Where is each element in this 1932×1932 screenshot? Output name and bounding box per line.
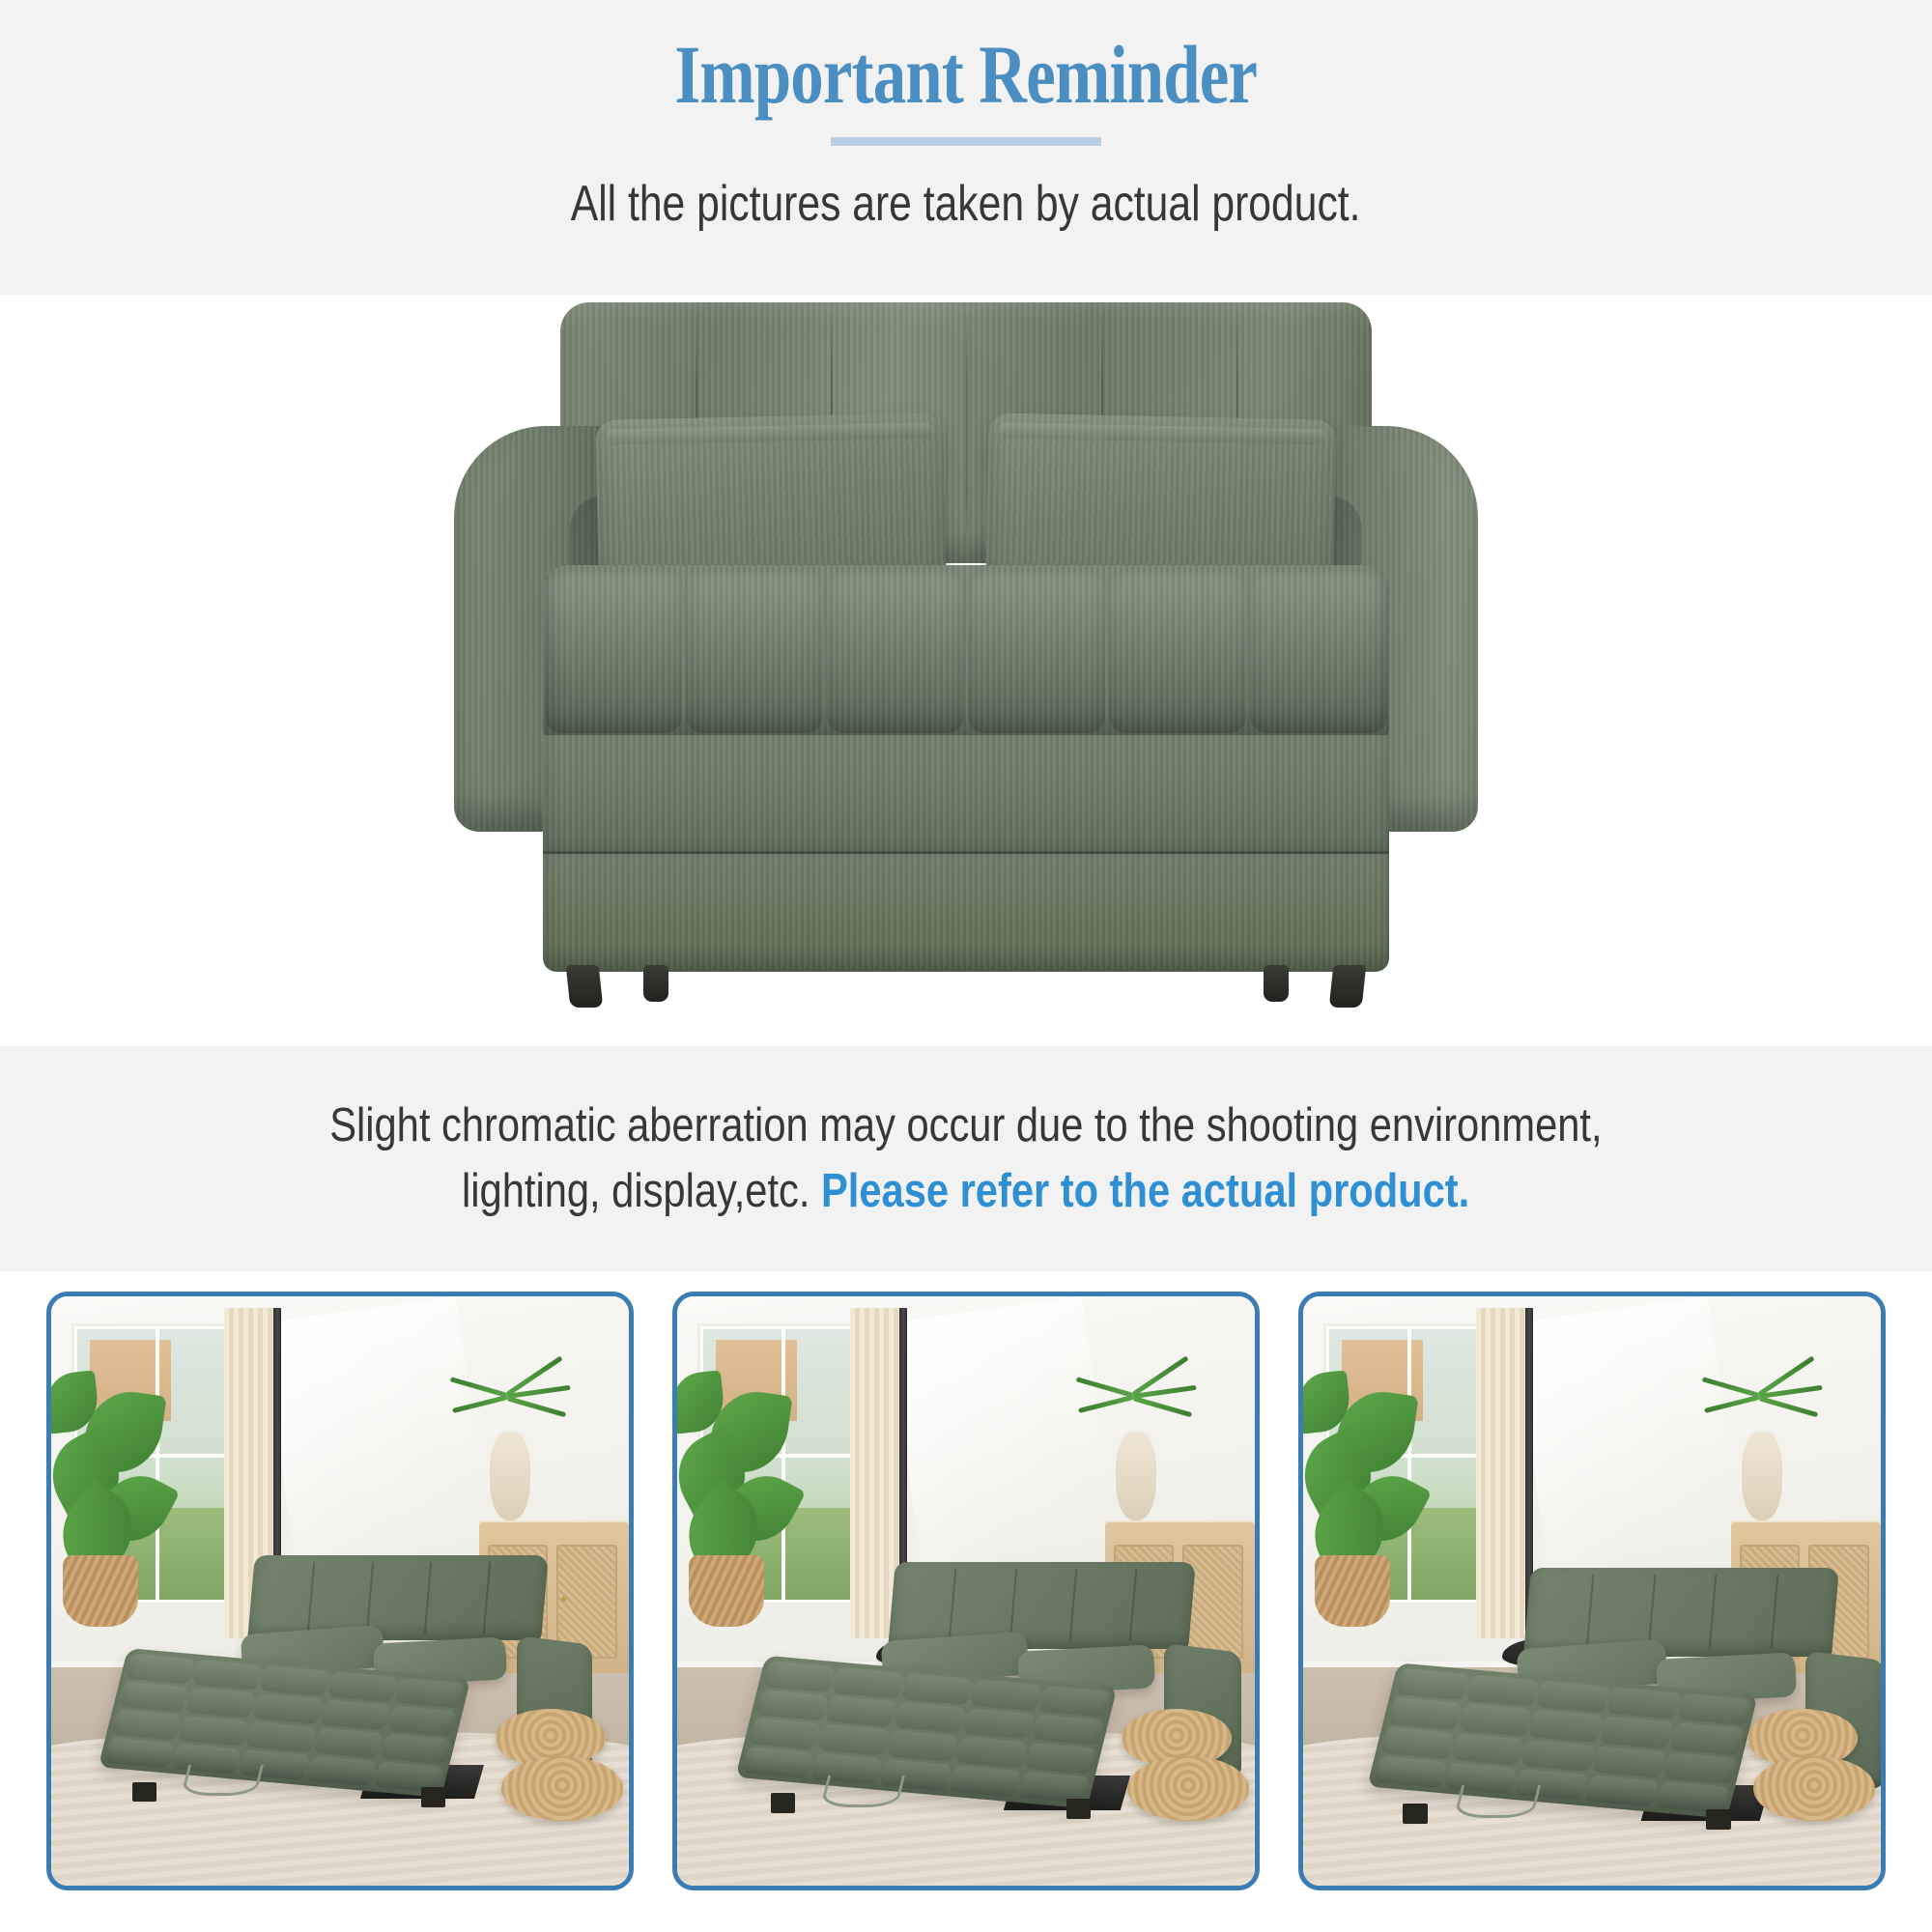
- sofa-illustration: [454, 302, 1478, 979]
- sofa-front-panel: [543, 735, 1389, 863]
- sofa-leg-back-right: [1264, 965, 1289, 1002]
- thumbnail-3[interactable]: [1298, 1292, 1886, 1890]
- title-divider: [831, 137, 1101, 146]
- hero-product-image: [0, 295, 1932, 1046]
- notice-band: Slight chromatic aberration may occur du…: [0, 1046, 1932, 1271]
- notice-line-2-plain: lighting, display,etc.: [462, 1165, 821, 1217]
- thumbnail-2[interactable]: [672, 1292, 1260, 1890]
- room-scene-3: [1303, 1296, 1881, 1886]
- sofa-base-skirt: [543, 854, 1389, 972]
- notice-accent-text: Please refer to the actual product.: [821, 1165, 1469, 1217]
- header-band: Important Reminder All the pictures are …: [0, 0, 1932, 295]
- notice-line-1: Slight chromatic aberration may occur du…: [329, 1094, 1602, 1159]
- sofa-leg-front-right: [1329, 965, 1367, 1008]
- page-title: Important Reminder: [675, 33, 1258, 116]
- thumbnail-strip: [0, 1292, 1932, 1932]
- room-scene-2: [677, 1296, 1255, 1886]
- sofa-seat-cushion: [543, 565, 1389, 741]
- sofa-leg-front-left: [566, 965, 604, 1008]
- sofa-leg-back-left: [643, 965, 668, 1002]
- header-subtitle: All the pictures are taken by actual pro…: [571, 175, 1361, 233]
- notice-line-2: lighting, display,etc. Please refer to t…: [462, 1159, 1469, 1225]
- room-scene-1: [51, 1296, 629, 1886]
- thumbnail-1[interactable]: [46, 1292, 634, 1890]
